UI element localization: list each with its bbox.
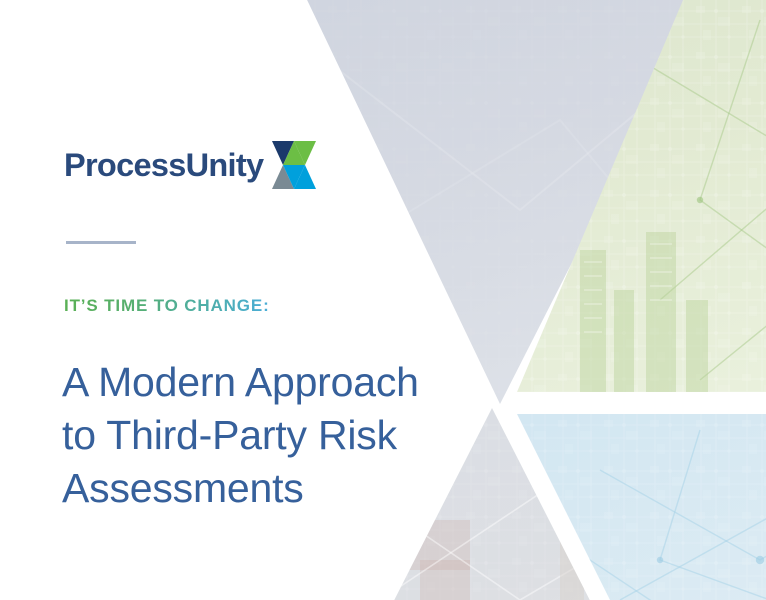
page-title-line: to Third-Party Risk [62, 409, 482, 462]
processunity-logo: ProcessUnity [64, 140, 316, 190]
page-title: A Modern Approach to Third-Party Risk As… [62, 356, 482, 515]
page-title-line: Assessments [62, 462, 482, 515]
cover-content: ProcessUnity IT’S TIME TO CHANGE: A Mode… [64, 0, 464, 600]
eyebrow-text: IT’S TIME TO CHANGE: [64, 297, 270, 314]
document-cover-page: ProcessUnity IT’S TIME TO CHANGE: A Mode… [0, 0, 766, 600]
processunity-hexagon-mark [272, 140, 316, 190]
page-title-line: A Modern Approach [62, 356, 482, 409]
triangle-bottom-right-blue-photo [500, 410, 766, 600]
triangle-top-right-green-photo [500, 0, 766, 400]
logo-wordmark: ProcessUnity [64, 149, 263, 182]
section-divider [66, 241, 136, 244]
